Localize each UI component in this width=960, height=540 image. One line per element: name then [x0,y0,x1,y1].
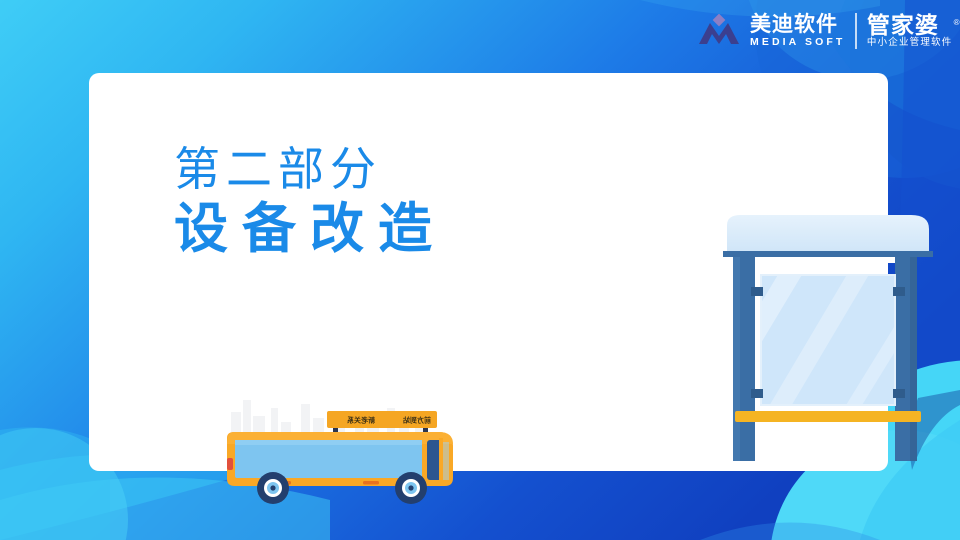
bus-sign-text-right: 新老关系 [347,416,375,425]
page-title: 设备改造 [174,197,446,261]
product-tagline: 中小企业管理软件 [867,37,953,49]
company-name-en: MEDIA SOFT [750,36,845,49]
city-bus-illustration: 前方到站 新老关系 [215,382,467,514]
logo-divider [855,13,857,49]
media-soft-m-logo-icon [697,14,741,48]
bus-stop-shelter-illustration [705,213,947,465]
product-name-block: 管家婆® 中小企业管理软件 [867,13,953,49]
content-card: 第二部分 设备改造 [89,73,888,471]
brand-logo: 美迪软件 MEDIA SOFT 管家婆® 中小企业管理软件 [697,9,952,53]
product-name-cn: 管家婆® [867,13,953,37]
company-name-block: 美迪软件 MEDIA SOFT [750,14,845,49]
bus-wheel-front [395,472,427,504]
slide-root: 美迪软件 MEDIA SOFT 管家婆® 中小企业管理软件 第二部分 设备改造 [0,0,960,540]
registered-mark: ® [954,11,960,35]
product-name-text: 管家婆 [867,12,939,38]
section-title-block: 第二部分 设备改造 [174,141,446,261]
section-label: 第二部分 [174,141,446,197]
bus-sign-text-left: 前方到站 [403,416,431,425]
bus-wheel-rear [257,472,289,504]
company-name-cn: 美迪软件 [750,14,845,36]
